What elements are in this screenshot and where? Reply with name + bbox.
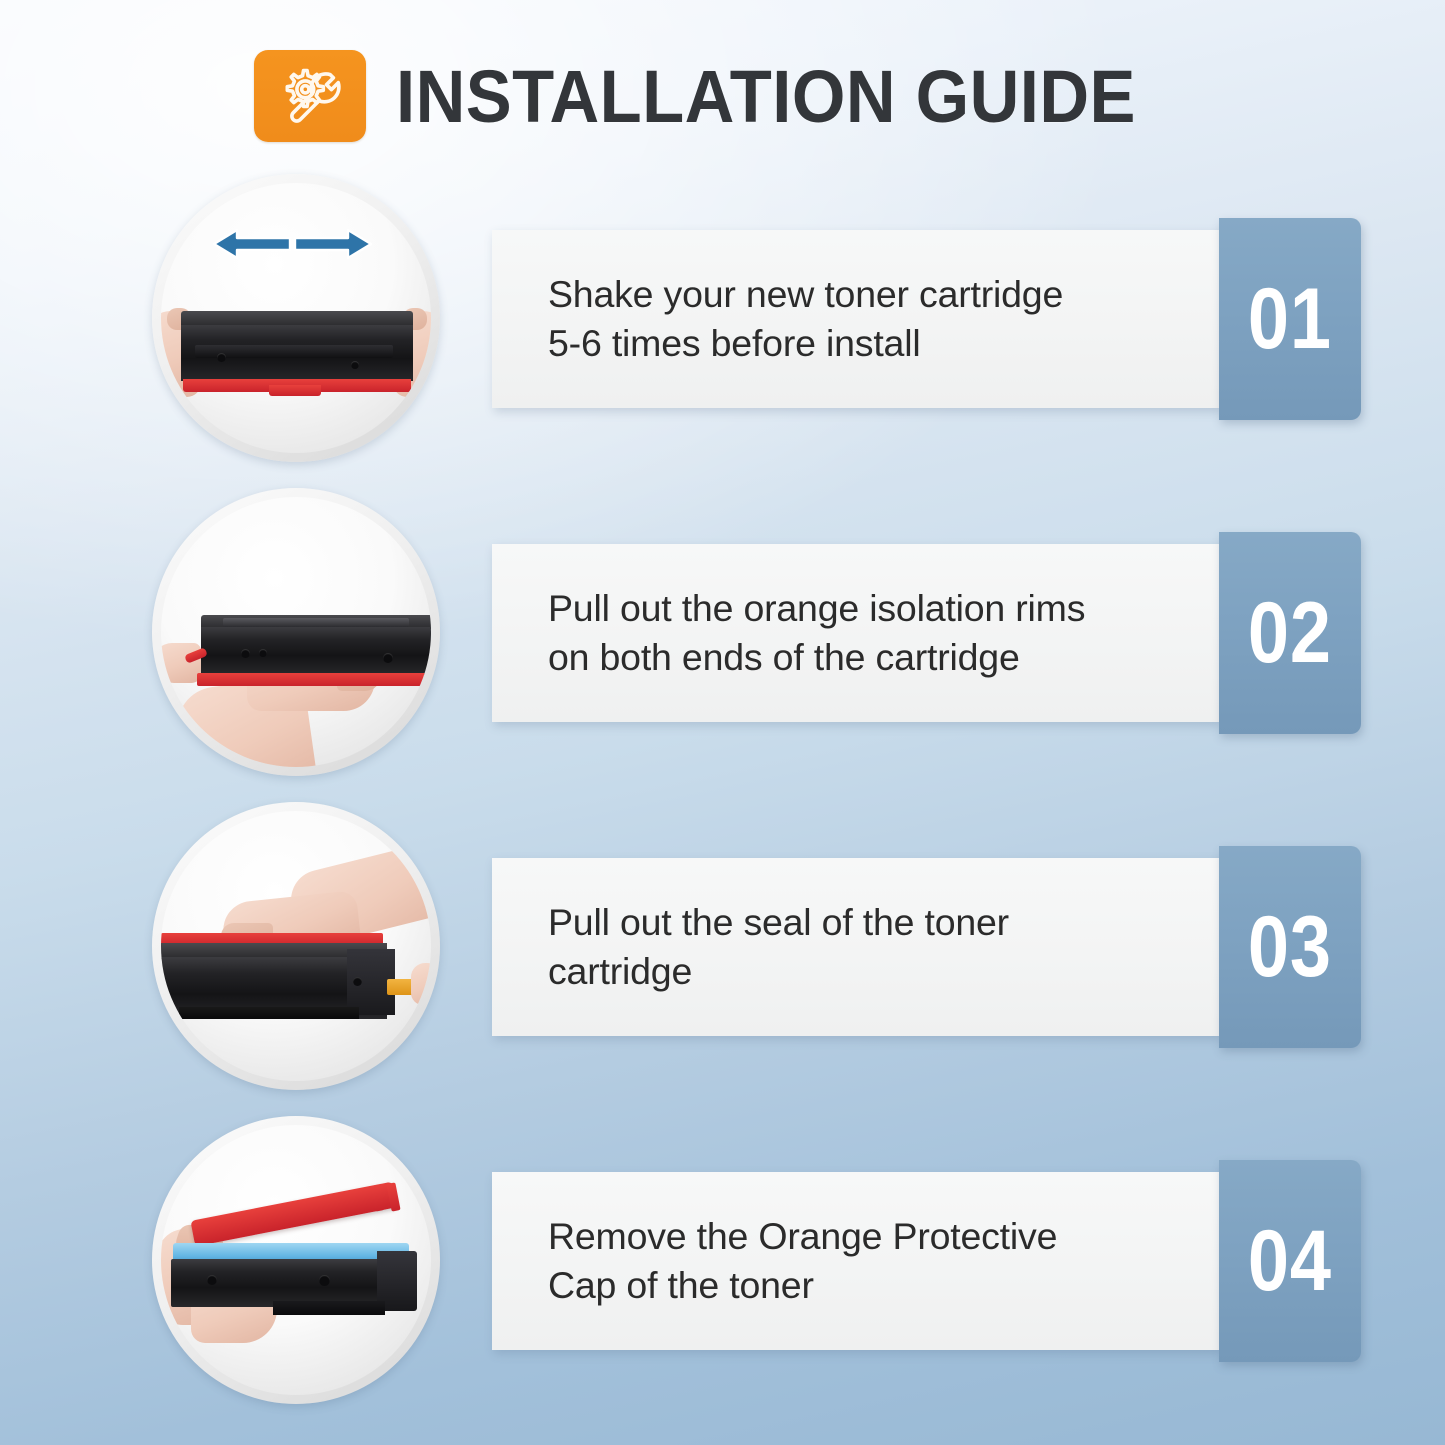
cartridge-lower-step (273, 1301, 385, 1315)
step-number-01: 01 (1248, 276, 1332, 362)
step-image-03-frame (152, 802, 440, 1090)
step-number-03: 03 (1248, 904, 1332, 990)
cartridge-stripe (223, 618, 409, 627)
step-row-03: Pull out the seal of the toner cartridge… (0, 788, 1445, 1104)
pull-isolation-rims-photo (161, 497, 431, 767)
cartridge-red-tab (269, 385, 321, 396)
step-card-01: Shake your new toner cartridge 5-6 times… (492, 230, 1219, 408)
cartridge-hole-left (241, 649, 250, 658)
cartridge-hole-right (319, 1275, 330, 1286)
step-number-04: 04 (1248, 1218, 1332, 1304)
cartridge-hole (353, 977, 362, 986)
shake-cartridge-photo (161, 183, 431, 453)
cartridge-hole-right (383, 653, 393, 663)
step-number-block-04: 04 (1219, 1160, 1361, 1362)
cartridge-hole-left (207, 1275, 217, 1285)
step-image-01-frame (152, 174, 440, 462)
protective-cap (190, 1182, 397, 1247)
page-title: INSTALLATION GUIDE (396, 54, 1136, 139)
step-row-02: Pull out the orange isolation rims on bo… (0, 474, 1445, 790)
arrow-left-icon (211, 227, 293, 261)
step-image-02-frame (152, 488, 440, 776)
step-number-block-02: 02 (1219, 532, 1361, 734)
gear-wrench-icon (254, 50, 366, 142)
step-card-03: Pull out the seal of the toner cartridge (492, 858, 1219, 1036)
step-number-block-01: 01 (1219, 218, 1361, 420)
cartridge-red-base (197, 673, 429, 686)
installation-guide-poster: INSTALLATION GUIDE (0, 0, 1445, 1445)
step-text-02: Pull out the orange isolation rims on bo… (548, 584, 1085, 683)
page-header: INSTALLATION GUIDE (0, 48, 1445, 144)
step-text-01: Shake your new toner cartridge 5-6 times… (548, 270, 1063, 369)
arrow-right-icon (292, 227, 374, 261)
cartridge-hole-mid (259, 649, 267, 657)
cartridge-hole-left (217, 353, 226, 362)
step-text-04: Remove the Orange Protective Cap of the … (548, 1212, 1057, 1311)
cartridge-body (201, 627, 431, 675)
pulling-hand (161, 643, 201, 683)
pulling-fingers (411, 963, 431, 1005)
step-row-01: Shake your new toner cartridge 5-6 times… (0, 160, 1445, 476)
step-row-04: Remove the Orange Protective Cap of the … (0, 1102, 1445, 1418)
remove-protective-cap-photo (161, 1125, 431, 1395)
step-image-04-frame (152, 1116, 440, 1404)
step-text-03: Pull out the seal of the toner cartridge (548, 898, 1009, 997)
cartridge-lower-lip (179, 1007, 359, 1019)
cartridge-hole-right (351, 361, 359, 369)
pull-seal-photo (161, 811, 431, 1081)
step-card-02: Pull out the orange isolation rims on bo… (492, 544, 1219, 722)
step-number-block-03: 03 (1219, 846, 1361, 1048)
step-number-02: 02 (1248, 590, 1332, 676)
step-card-04: Remove the Orange Protective Cap of the … (492, 1172, 1219, 1350)
